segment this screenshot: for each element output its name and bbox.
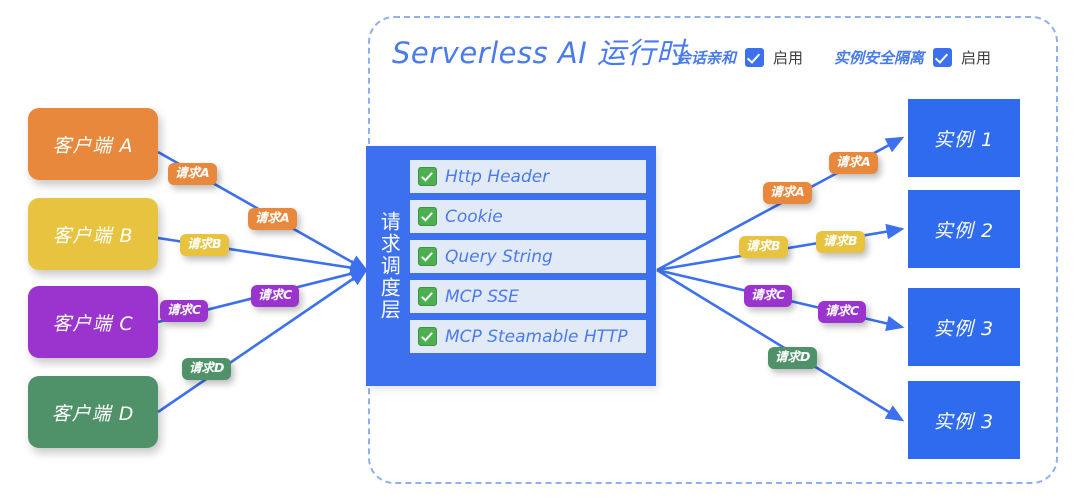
- scheduler-row-list: Http Header Cookie Query String MCP SSE …: [410, 160, 646, 353]
- runtime-toggles: 会话亲和 启用 实例安全隔离 启用: [676, 47, 991, 68]
- scheduler-row-label: Query String: [445, 247, 553, 267]
- request-label-pill: 请求B: [816, 231, 865, 253]
- client-label-b: 客户端 B: [52, 221, 133, 248]
- client-label-a: 客户端 A: [52, 131, 133, 158]
- instance-box-4[interactable]: 实例 3: [908, 381, 1020, 459]
- request-label-pill: 请求A: [763, 182, 812, 204]
- request-label-pill: 请求C: [744, 285, 792, 307]
- scheduler-vertical-label: 请求调度层: [372, 146, 406, 386]
- scheduler-row[interactable]: Http Header: [410, 160, 646, 193]
- scheduler-row[interactable]: MCP SSE: [410, 280, 646, 313]
- check-square-icon[interactable]: [418, 207, 437, 226]
- request-label-pill: 请求B: [180, 234, 229, 256]
- client-box-c[interactable]: 客户端 C: [28, 286, 158, 358]
- request-label-pill: 请求A: [168, 163, 217, 185]
- check-square-icon[interactable]: [418, 287, 437, 306]
- instance-label-4: 实例 3: [934, 407, 994, 434]
- instance-box-3[interactable]: 实例 3: [908, 288, 1020, 366]
- scheduler-row[interactable]: MCP Steamable HTTP: [410, 320, 646, 353]
- scheduler-label-text: 请求调度层: [378, 211, 400, 321]
- client-box-a[interactable]: 客户端 A: [28, 108, 158, 180]
- request-label-pill: 请求D: [768, 347, 817, 369]
- request-label-pill: 请求C: [251, 285, 299, 307]
- session-affinity-checkbox-icon[interactable]: [745, 48, 764, 67]
- check-square-icon[interactable]: [418, 167, 437, 186]
- instance-label-1: 实例 1: [934, 125, 994, 152]
- toggle-state-session-affinity: 启用: [773, 47, 803, 68]
- check-square-icon[interactable]: [418, 327, 437, 346]
- client-box-b[interactable]: 客户端 B: [28, 198, 158, 270]
- scheduler-row[interactable]: Cookie: [410, 200, 646, 233]
- request-label-pill: 请求C: [818, 301, 866, 323]
- client-box-d[interactable]: 客户端 D: [28, 376, 158, 448]
- instance-label-3: 实例 3: [934, 314, 994, 341]
- scheduler-row-label: MCP Steamable HTTP: [445, 327, 628, 347]
- runtime-title: Serverless AI 运行时: [392, 30, 686, 72]
- client-label-d: 客户端 D: [52, 399, 135, 426]
- request-label-pill: 请求A: [829, 152, 878, 174]
- instance-box-2[interactable]: 实例 2: [908, 190, 1020, 268]
- diagram-canvas: Serverless AI 运行时 会话亲和 启用 实例安全隔离 启用 客户端 …: [0, 0, 1080, 500]
- toggle-label-session-affinity: 会话亲和: [676, 47, 736, 68]
- client-label-c: 客户端 C: [52, 309, 133, 336]
- instance-label-2: 实例 2: [934, 216, 994, 243]
- toggle-label-instance-isolation: 实例安全隔离: [834, 47, 924, 68]
- request-label-pill: 请求C: [160, 300, 208, 322]
- scheduler-row-label: Http Header: [445, 167, 549, 187]
- toggle-state-instance-isolation: 启用: [961, 47, 991, 68]
- scheduler-row-label: MCP SSE: [445, 287, 519, 307]
- scheduler-row[interactable]: Query String: [410, 240, 646, 273]
- request-label-pill: 请求A: [248, 208, 297, 230]
- request-label-pill: 请求B: [739, 236, 788, 258]
- check-square-icon[interactable]: [418, 247, 437, 266]
- instance-box-1[interactable]: 实例 1: [908, 99, 1020, 177]
- instance-isolation-checkbox-icon[interactable]: [933, 48, 952, 67]
- scheduler-row-label: Cookie: [445, 207, 503, 227]
- request-label-pill: 请求D: [182, 358, 231, 380]
